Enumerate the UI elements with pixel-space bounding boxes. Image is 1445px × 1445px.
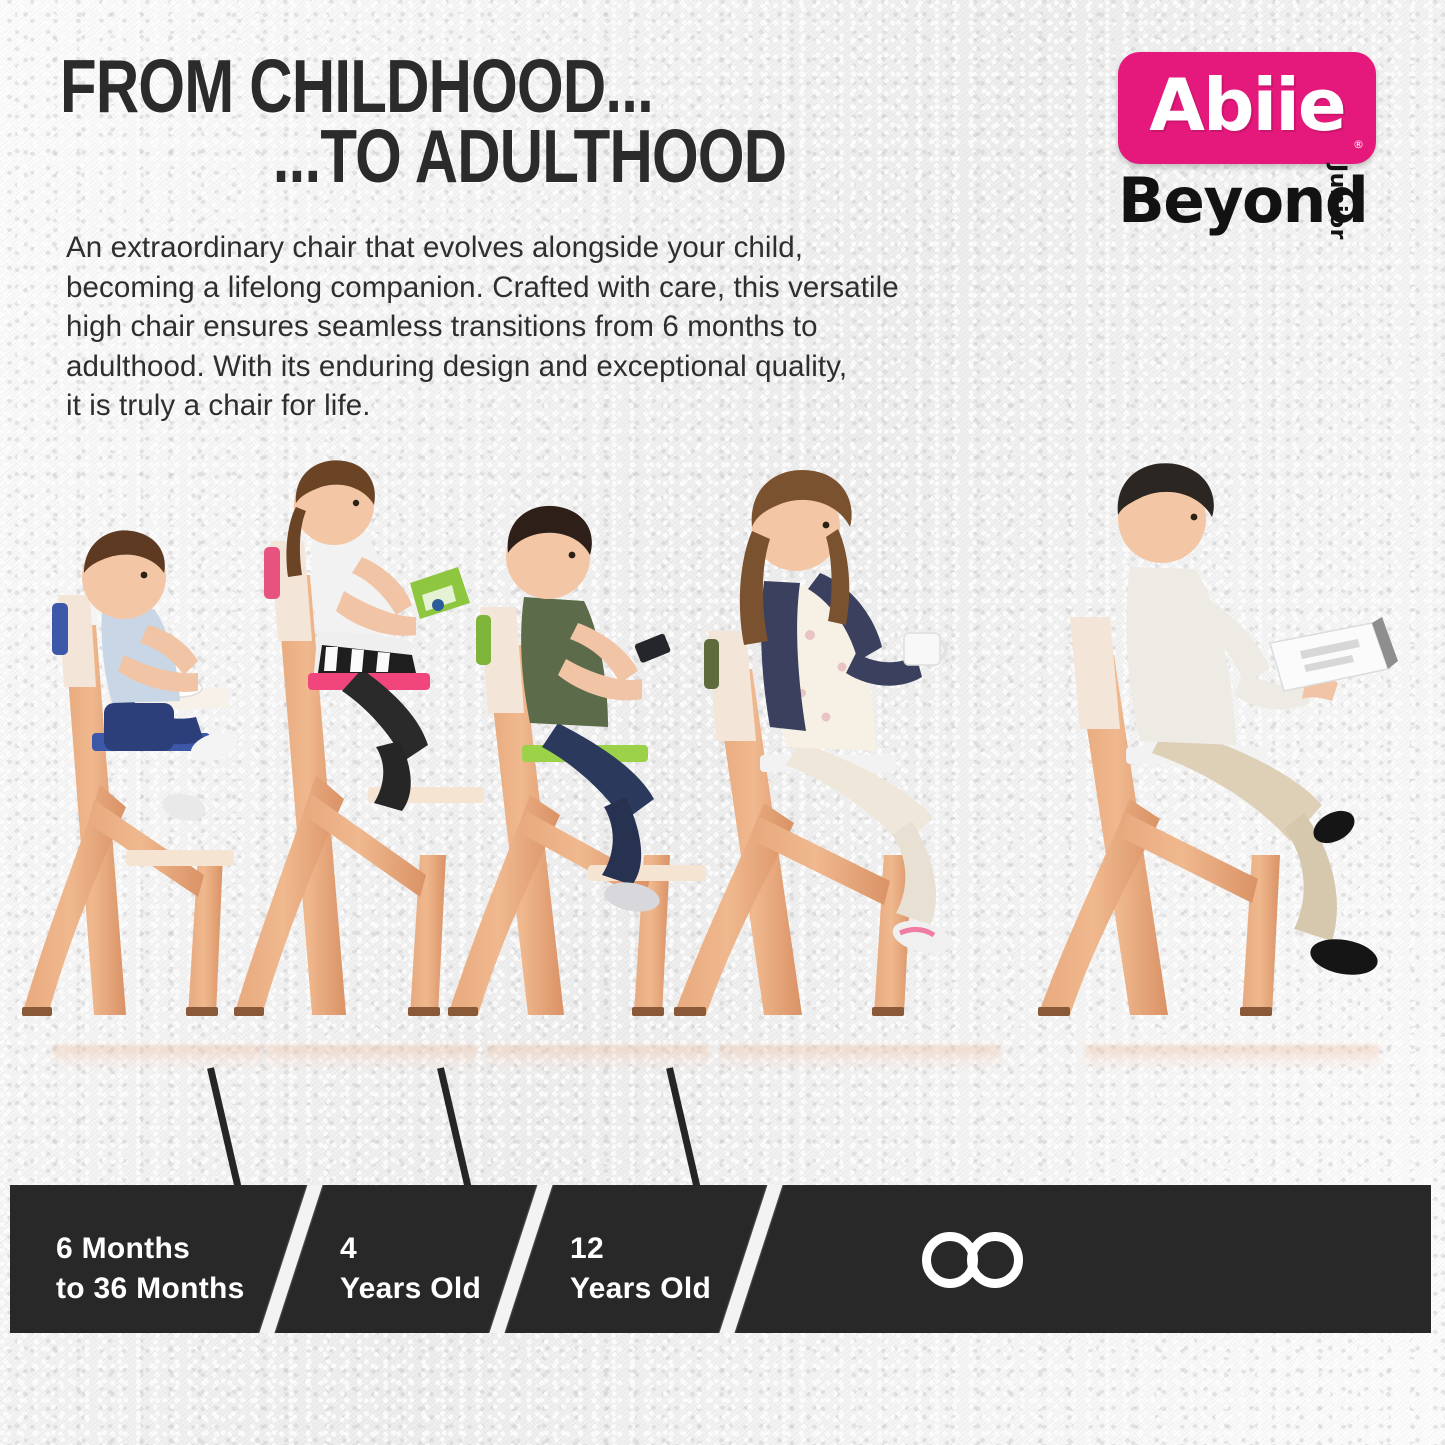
floor-reflection: [720, 1045, 1000, 1069]
headline-line-1: FROM CHILDHOOD...: [60, 52, 780, 122]
infinity-icon: [922, 1232, 1047, 1288]
banner-segment-3-line-2: Years Old: [570, 1269, 711, 1309]
banner-segment-3-line-1: 12: [570, 1232, 604, 1265]
banner-segment-stage-3: 12 Years Old: [570, 1229, 711, 1309]
brand-logo: Abiie ® Beyond Junior: [1118, 52, 1418, 246]
infographic-page: FROM CHILDHOOD... ...TO ADULTHOOD An ext…: [0, 0, 1445, 1445]
banner-segment-1-line-2: to 36 Months: [56, 1269, 245, 1309]
logo-subline: Beyond Junior: [1118, 170, 1418, 246]
page-title: FROM CHILDHOOD... ...TO ADULTHOOD: [60, 52, 960, 192]
logo-brand-text: Abiie: [1149, 69, 1344, 141]
infinity-ring-right: [967, 1232, 1023, 1288]
banner-divider-3: [712, 1185, 787, 1333]
logo-badge: Abiie ®: [1118, 52, 1376, 164]
banner-segment-2-line-2: Years Old: [340, 1269, 481, 1309]
paragraph-line-5: it is truly a chair for life.: [66, 386, 1036, 426]
banner-segment-stage-2: 4 Years Old: [340, 1229, 481, 1309]
figure-woman-with-mug: [660, 455, 1060, 1055]
banner-divider-2: [482, 1185, 557, 1333]
paragraph-line-2: becoming a lifelong companion. Crafted w…: [66, 268, 1036, 308]
figure-man-reading-book: [1022, 455, 1442, 1055]
banner-divider-1: [252, 1185, 327, 1333]
product-scene: [0, 455, 1445, 1055]
paragraph-line-3: high chair ensures seamless transitions …: [66, 307, 1036, 347]
paragraph-line-1: An extraordinary chair that evolves alon…: [66, 228, 1036, 268]
banner-segment-2-line-1: 4: [340, 1232, 357, 1265]
headline-line-2: ...TO ADULTHOOD: [60, 122, 780, 192]
floor-reflection: [1085, 1045, 1379, 1069]
paragraph-line-4: adulthood. With its enduring design and …: [66, 347, 1036, 387]
man-reading-illustration: [1022, 455, 1442, 1055]
banner-segment-1-line-1: 6 Months: [56, 1232, 190, 1265]
registered-trademark-icon: ®: [1353, 138, 1364, 151]
description-paragraph: An extraordinary chair that evolves alon…: [66, 228, 1036, 426]
logo-product-text: Beyond: [1118, 170, 1415, 232]
logo-tier-text: Junior: [1325, 164, 1350, 240]
age-stage-banner: 6 Months to 36 Months 4 Years Old 12 Yea…: [10, 1185, 1431, 1333]
banner-segment-stage-1: 6 Months to 36 Months: [56, 1229, 245, 1309]
woman-with-mug-illustration: [660, 455, 1060, 1055]
